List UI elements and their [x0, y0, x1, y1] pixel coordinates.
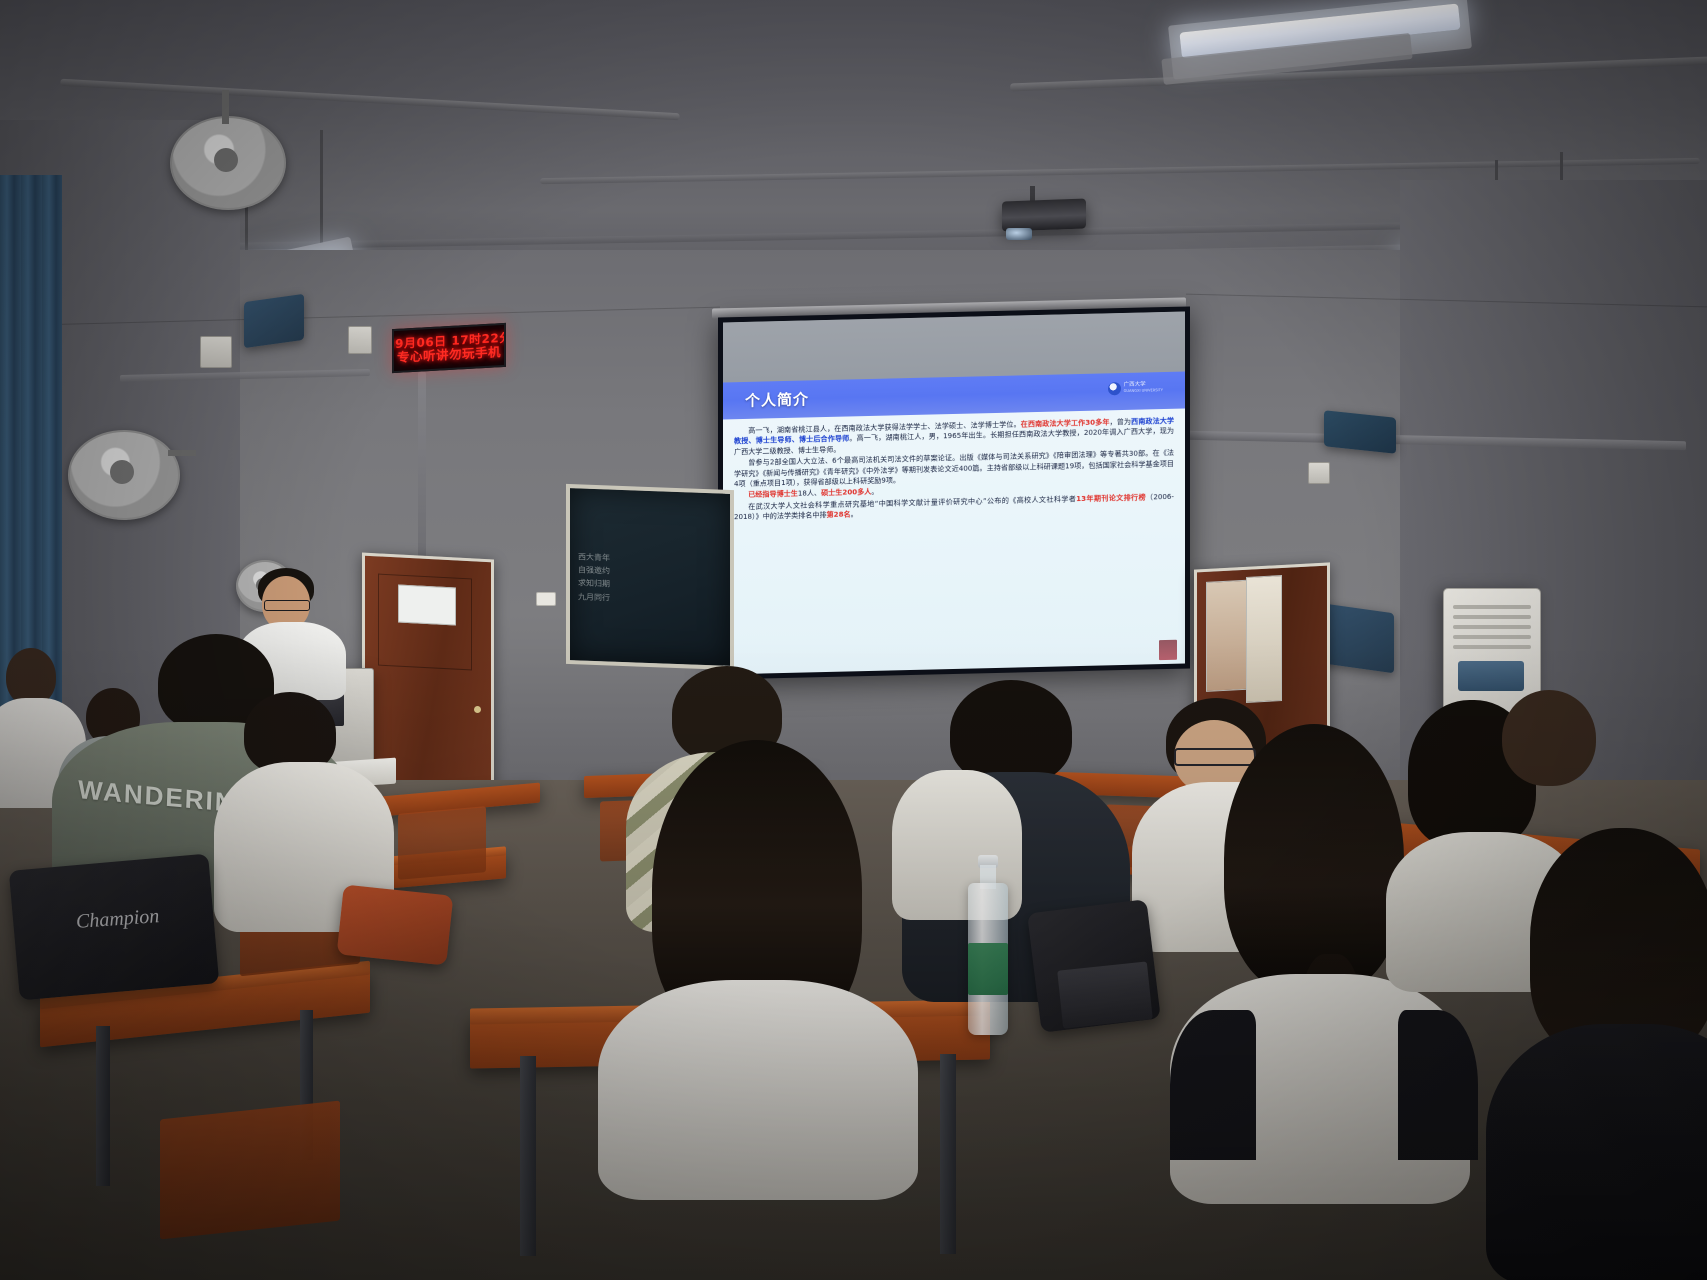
slide-text-segment: 18人、	[798, 489, 821, 499]
wall-outlet[interactable]	[536, 592, 556, 606]
fan-arm	[168, 450, 196, 456]
wall-fan-left	[170, 90, 290, 210]
seat-left-front	[160, 1101, 340, 1240]
student-white-tshirt-left	[228, 692, 378, 912]
slide-text-segment: 。	[871, 487, 878, 496]
slide-text-segment: 在西南政法大学工作30多年	[1021, 417, 1110, 428]
chalkboard-writing: 西大青年自强邀约求知归期九月同行	[578, 550, 610, 604]
slide-text-segment: ，曾为	[1110, 416, 1132, 426]
student-head	[1502, 690, 1596, 786]
ac-vent	[1453, 615, 1531, 619]
water-bottle[interactable]	[968, 855, 1008, 1035]
ac-control-panel[interactable]	[1458, 661, 1524, 691]
classroom-photo-scene: 09月06日 17时22分 专心听讲勿玩手机 个人简介 广西大学 GUANGXI…	[0, 0, 1707, 1280]
raglan-sleeve-right	[1398, 1010, 1478, 1160]
slide-corner-stamp	[1159, 640, 1177, 660]
slide-text-segment: 。	[851, 509, 858, 518]
chalkboard: 西大青年自强邀约求知归期九月同行	[566, 484, 734, 670]
chalk-line: 西大青年	[578, 550, 610, 564]
door-window-left	[398, 584, 456, 625]
slide-title: 个人简介	[745, 388, 809, 411]
wall-junction-box-2	[348, 326, 372, 354]
light-hanger-1	[320, 130, 323, 260]
seat-far-left	[398, 806, 486, 880]
ac-vent	[1453, 635, 1531, 639]
student-torso	[1486, 1024, 1707, 1280]
fan-hub	[214, 148, 238, 172]
led-notice-board: 09月06日 17时22分 专心听讲勿玩手机	[392, 323, 506, 373]
chalk-line: 九月同行	[578, 590, 610, 604]
student-center-longhair-main	[616, 740, 896, 1160]
slide-text-segment: 已经指导博士生	[748, 489, 798, 499]
slide-text-segment: 第28名	[827, 510, 851, 520]
door-knob-left[interactable]	[474, 706, 481, 713]
ceiling-projector	[1002, 199, 1086, 232]
slide-text-segment: 13年期刊论文排行榜	[1076, 492, 1146, 503]
student-torso-white	[598, 980, 918, 1200]
presenter-glasses	[264, 600, 310, 611]
projection-screen: 个人简介 广西大学 GUANGXI UNIVERSITY 高一飞，湖南省桃江县人…	[718, 306, 1190, 679]
university-logo: 广西大学 GUANGXI UNIVERSITY	[1108, 381, 1163, 395]
desk-leg	[96, 1026, 110, 1186]
projector-lens	[1006, 228, 1032, 240]
fan-hub	[110, 460, 134, 484]
student-far-right-corner	[1516, 828, 1707, 1268]
slide-body-text: 高一飞，湖南省桃江县人，在西南政法大学获得法学学士、法学硕士、法学博士学位。在西…	[723, 410, 1185, 674]
bottle-label	[968, 943, 1008, 995]
wall-ac-unit-upper-right	[1324, 410, 1396, 454]
desk-leg	[520, 1056, 536, 1256]
desk-leg	[940, 1054, 956, 1254]
bag-red-on-desk[interactable]	[337, 884, 454, 965]
chalk-line: 求知归期	[578, 577, 610, 591]
wall-speaker-left	[244, 294, 304, 348]
wall-junction-box-1	[200, 336, 232, 368]
ac-vent	[1453, 645, 1531, 649]
student-hair-ponytail	[1224, 724, 1404, 994]
door-poster-right-2	[1246, 575, 1282, 703]
presentation-slide: 个人简介 广西大学 GUANGXI UNIVERSITY 高一飞，湖南省桃江县人…	[723, 312, 1185, 675]
fan-arm	[222, 90, 229, 124]
university-logo-subname: GUANGXI UNIVERSITY	[1124, 388, 1163, 393]
slide-top-band	[723, 312, 1185, 383]
student-right-back-head	[1492, 690, 1622, 840]
wall-fan-side	[68, 420, 178, 530]
raglan-sleeve-left	[1170, 1010, 1256, 1160]
ac-vent	[1453, 605, 1531, 609]
university-logo-mark	[1108, 382, 1121, 395]
chalk-line: 自强邀约	[578, 564, 610, 578]
ac-vent	[1453, 625, 1531, 629]
wall-junction-box-3	[1308, 462, 1330, 484]
slide-text-segment: 硕士生200多人	[821, 487, 871, 497]
tablet-on-desk[interactable]	[1057, 961, 1153, 1028]
